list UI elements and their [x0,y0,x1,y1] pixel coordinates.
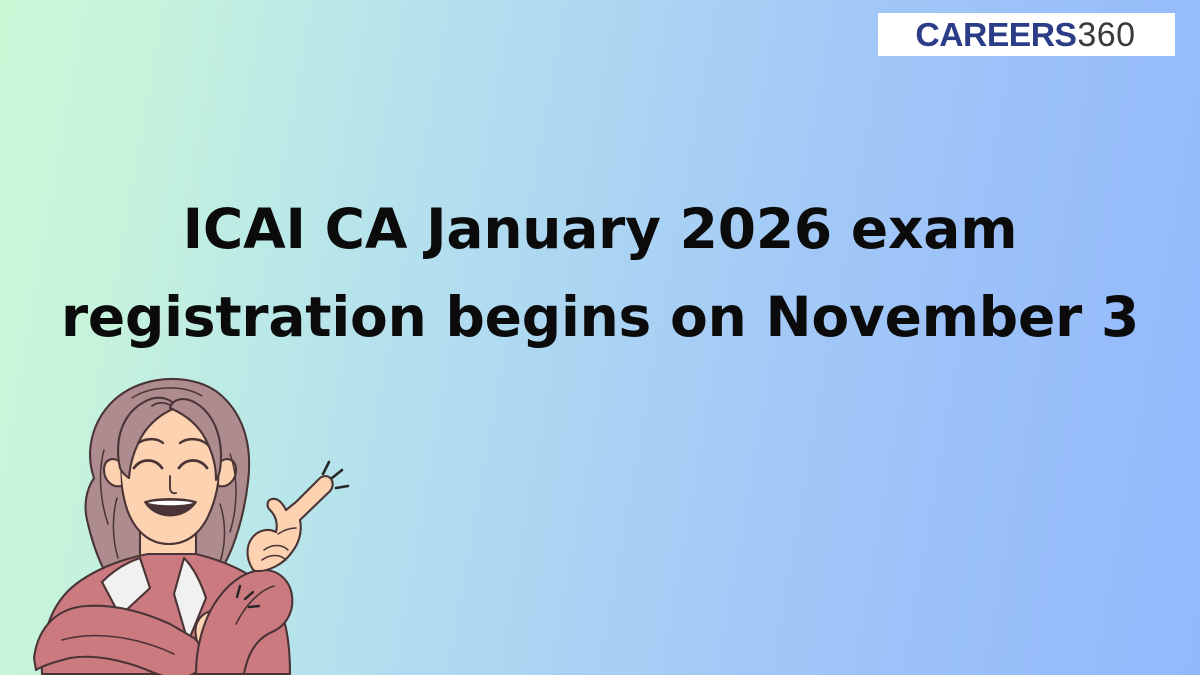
logo-text-careers: CAREERS [916,18,1077,51]
collar-left [102,558,150,616]
lower-hand-knuckles [204,631,220,634]
logo-text-360: 360 [1077,18,1135,52]
upper-hand-thumb-line [278,528,296,534]
lower-hand [196,605,250,648]
hair-front-left [118,398,176,478]
hair-front-right [170,399,221,480]
mouth [145,499,196,516]
pointing-woman-svg [24,358,354,675]
headline-line-2: registration begins on November 3 [0,273,1200,361]
lower-arm-sleeve [34,606,203,675]
collar-right [174,558,206,642]
upper-hand-finger-fold-2 [262,556,286,561]
hair-back [86,379,250,590]
headline: ICAI CA January 2026 exam registration b… [0,185,1200,361]
hair-part [152,403,170,406]
sparkle-lines-lower [237,586,259,607]
neck [140,526,196,588]
eye-left [134,461,162,469]
lower-arm-fold [62,636,174,654]
upper-hand [248,476,333,571]
upper-arm-fold [236,586,274,624]
promo-banner: CAREERS 360 ICAI CA January 2026 exam re… [0,0,1200,675]
hair-wave-2 [113,498,118,558]
headline-line-1: ICAI CA January 2026 exam [0,185,1200,273]
hair-wave-4 [220,504,225,562]
careers360-logo[interactable]: CAREERS 360 [878,13,1175,56]
teeth [148,501,193,506]
eye-right [179,461,207,469]
hair-wave-1 [101,450,108,524]
nose [170,476,176,493]
ear-right [219,459,236,486]
hair-wave-3 [230,454,236,532]
upper-arm-sleeve [196,570,292,674]
upper-hand-finger-fold-1 [264,546,288,551]
hair-wave-5 [132,388,202,398]
pointing-woman-illustration [24,358,354,675]
eyebrow-right [180,439,209,446]
sparkle-lines-upper [323,462,348,488]
ear-left [104,459,121,486]
sweater-body [42,554,290,674]
face [120,404,220,544]
eyebrow-left [135,439,163,446]
